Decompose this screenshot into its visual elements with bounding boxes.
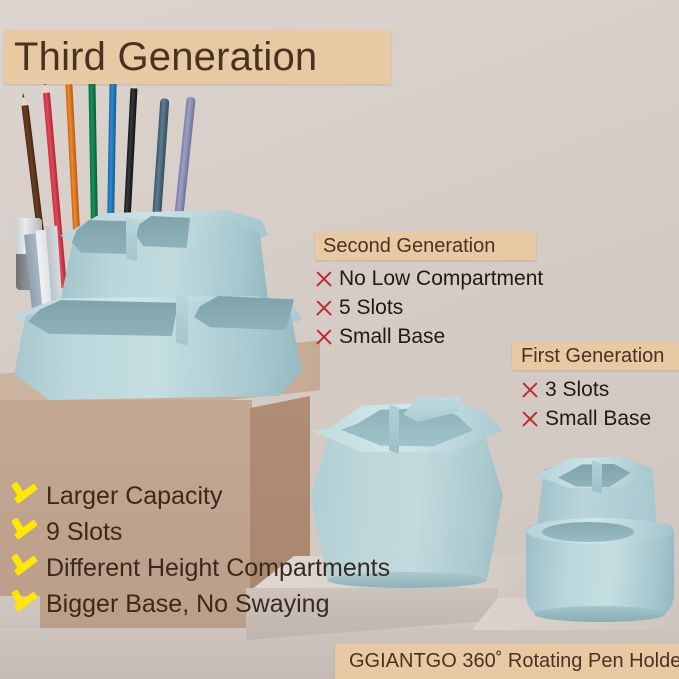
feature-label: Different Height Compartments: [46, 556, 390, 581]
feature-label: Bigger Base, No Swaying: [46, 592, 329, 617]
list-item: Bigger Base, No Swaying: [10, 586, 410, 622]
x-icon: [519, 379, 541, 401]
gen2-divider: [389, 405, 399, 454]
first-generation-badge: First Generation: [512, 342, 679, 370]
base-slot-right: [194, 296, 294, 330]
feature-label: 3 Slots: [545, 379, 609, 400]
feature-label: No Low Compartment: [339, 268, 543, 289]
list-item: 9 Slots: [10, 514, 410, 550]
product-caption: GGIANTGO 360˚ Rotating Pen Holder: [335, 644, 679, 679]
feature-label: 5 Slots: [339, 297, 403, 318]
second-generation-badge: Second Generation: [315, 232, 536, 260]
base-slot-left: [28, 300, 178, 336]
feature-label: Larger Capacity: [46, 484, 222, 509]
upper-divider: [126, 217, 137, 261]
check-icon: [10, 555, 41, 582]
gen1-upper-divider: [592, 460, 602, 493]
list-item: No Low Compartment: [313, 264, 563, 293]
feature-label: Small Base: [545, 408, 651, 429]
x-icon: [313, 326, 335, 348]
gen1-lower-cavity: [542, 522, 634, 542]
product-first-generation: [520, 456, 679, 628]
check-icon: [10, 591, 41, 618]
base-divider: [176, 295, 188, 346]
feature-label: 9 Slots: [46, 520, 122, 545]
x-icon: [313, 297, 335, 319]
page-title: Third Generation: [4, 30, 391, 84]
feature-label: Small Base: [339, 326, 445, 347]
check-icon: [10, 519, 41, 546]
product-third-generation: [8, 196, 308, 411]
list-item: Small Base: [519, 404, 679, 433]
check-icon: [10, 483, 41, 510]
list-item: 5 Slots: [313, 293, 563, 322]
list-item: 3 Slots: [519, 375, 679, 404]
second-generation-feature-list: No Low Compartment 5 Slots Small Base: [313, 264, 563, 351]
x-icon: [519, 408, 541, 430]
x-icon: [313, 268, 335, 290]
gen1-swivel-base: [534, 606, 666, 622]
first-generation-feature-list: 3 Slots Small Base: [519, 375, 679, 433]
third-generation-feature-list: Larger Capacity 9 Slots Different Height…: [10, 478, 410, 622]
upper-slot-left: [72, 220, 128, 254]
infographic-canvas: Third Generation Second Generation No Lo…: [0, 0, 679, 679]
list-item: Larger Capacity: [10, 478, 410, 514]
list-item: Different Height Compartments: [10, 550, 410, 586]
